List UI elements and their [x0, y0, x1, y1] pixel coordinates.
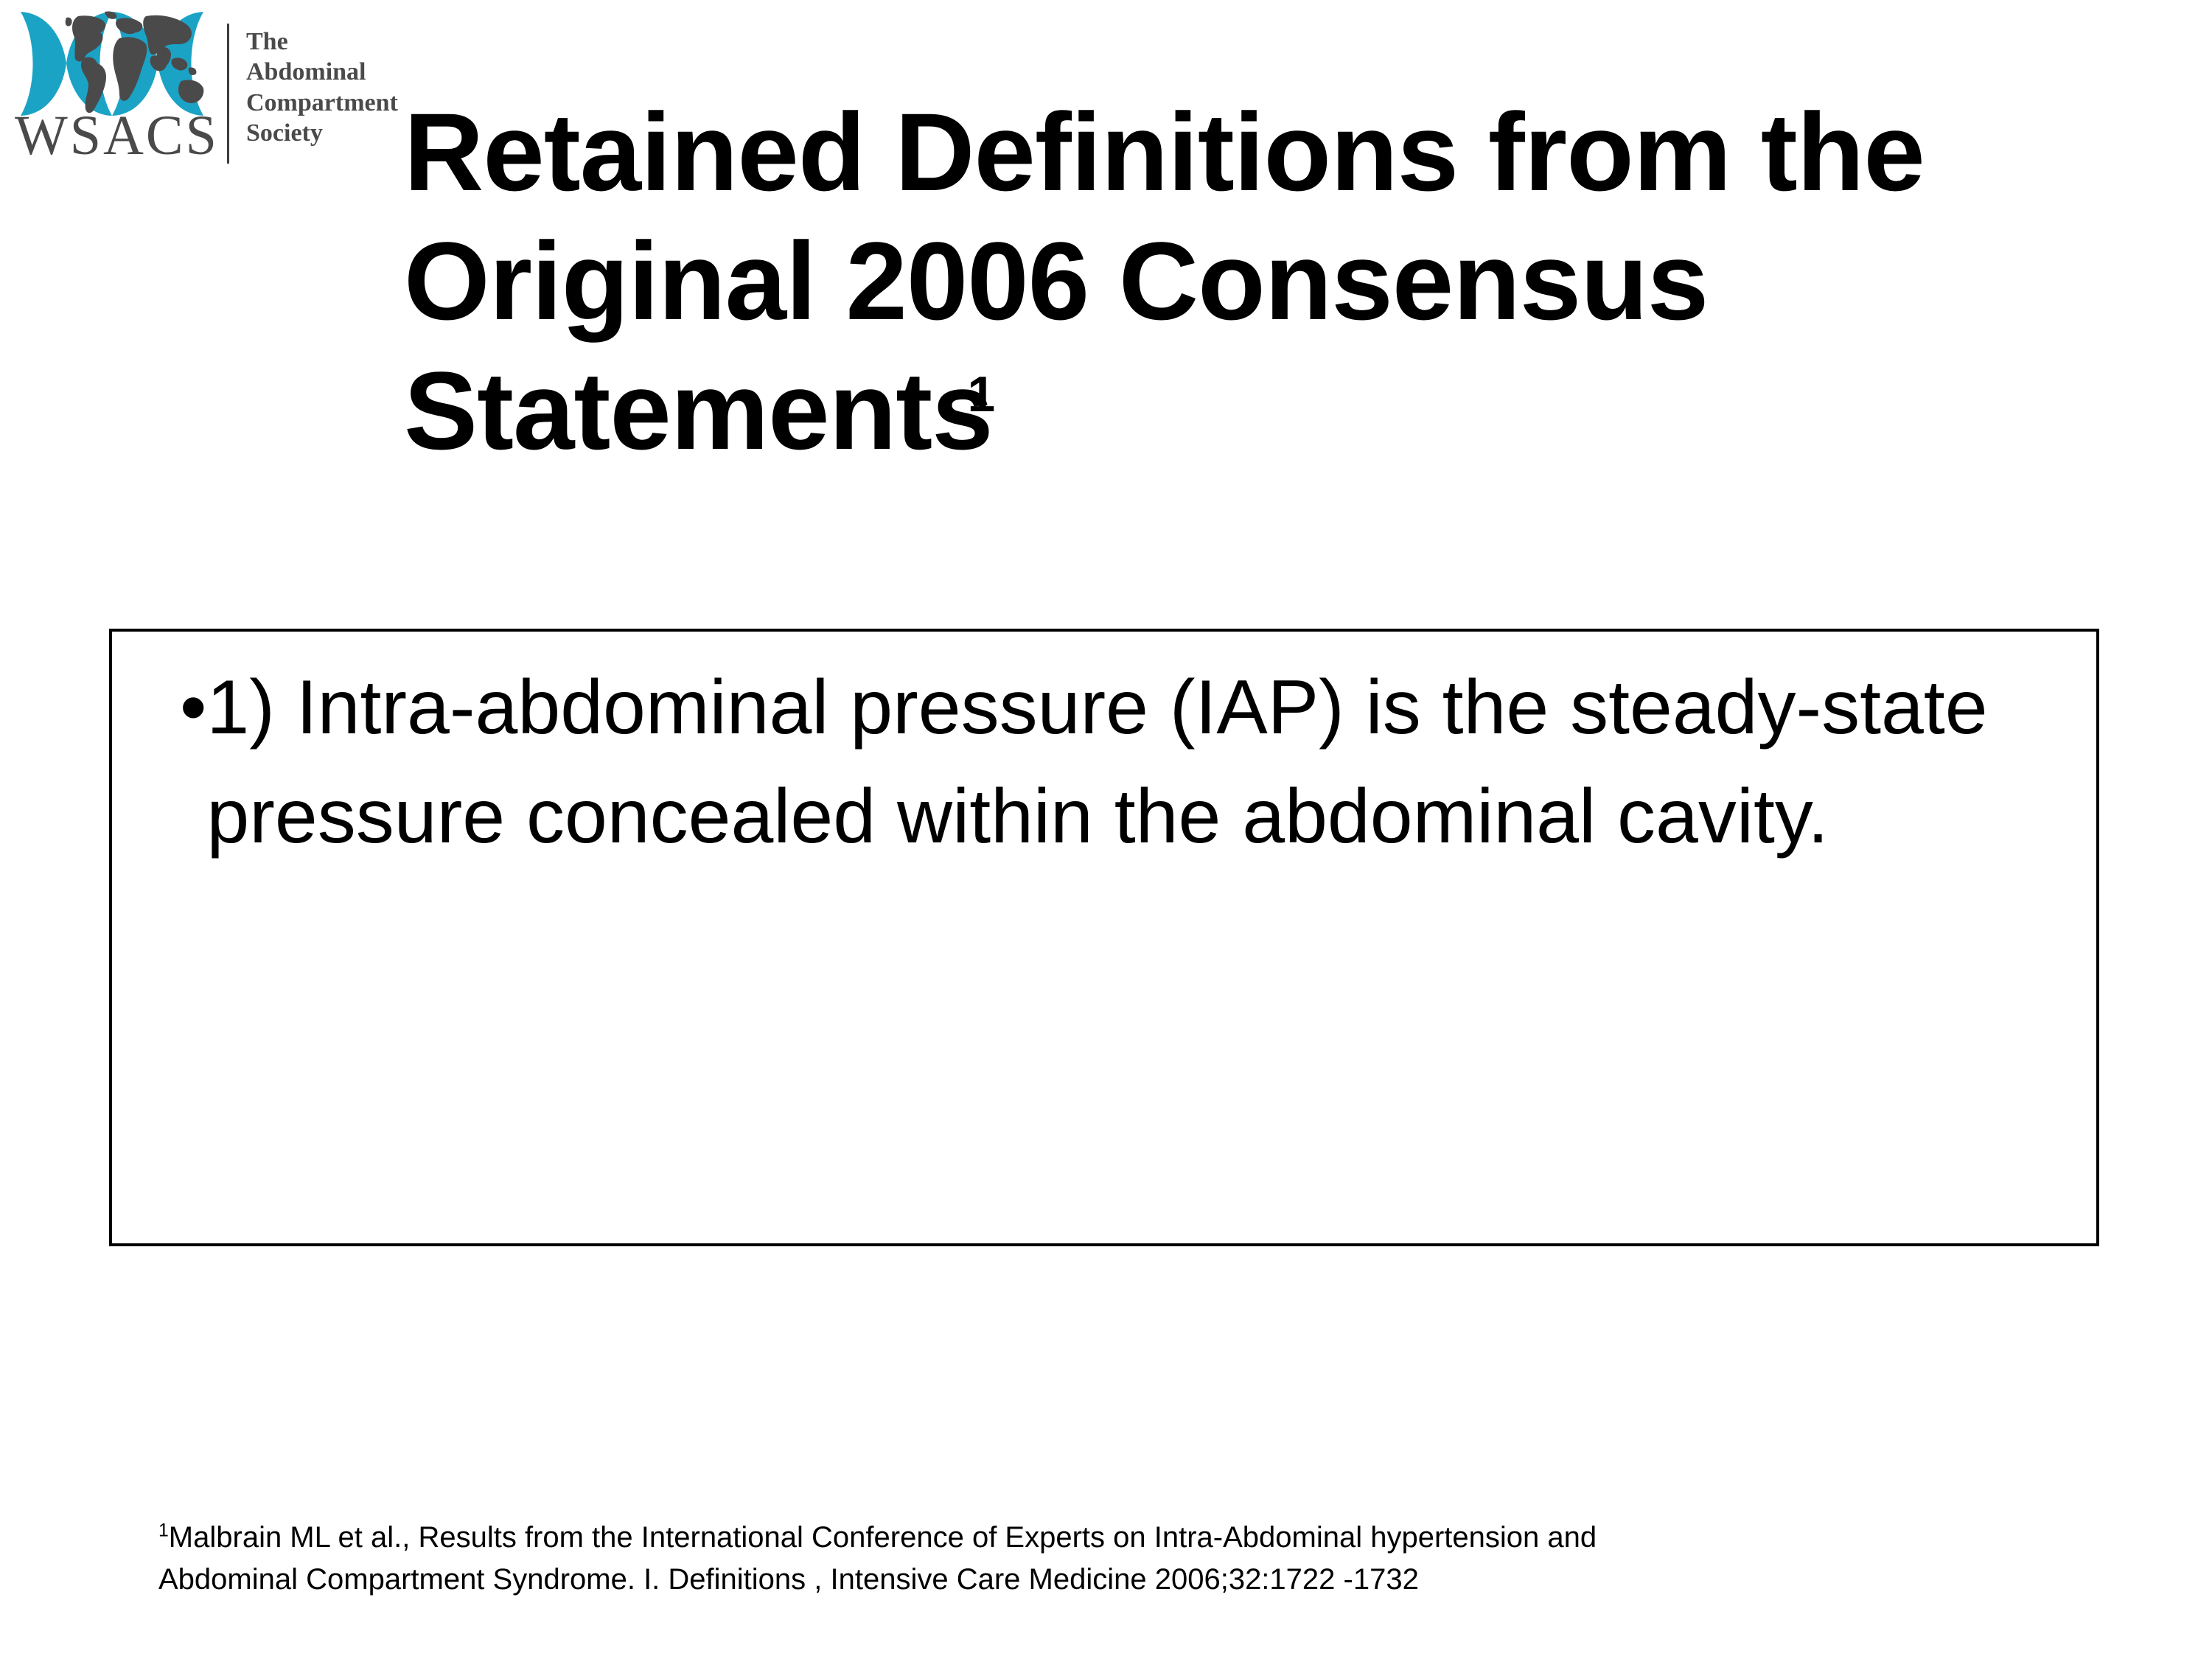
- footnote-line-1: 1Malbrain ML et al., Results from the In…: [158, 1517, 2031, 1559]
- slide-title-line-3: Statements1: [404, 346, 2143, 476]
- slide-title: Retained Definitions from the Original 2…: [404, 88, 2143, 476]
- logo-tagline: The Abdominal Compartment Society: [246, 27, 401, 149]
- footnote-citation: 1Malbrain ML et al., Results from the In…: [158, 1517, 2031, 1601]
- slide-title-footnote-marker: 1: [968, 367, 996, 422]
- wsacs-wordmark: WSACS: [15, 108, 215, 164]
- bullet-list: • 1) Intra-abdominal pressure (IAP) is t…: [180, 654, 2023, 871]
- list-item-text: 1) Intra-abdominal pressure (IAP) is the…: [206, 654, 2023, 871]
- logo-tagline-line-2: Abdominal: [246, 57, 401, 87]
- footnote-marker: 1: [158, 1521, 169, 1541]
- slide-title-line-1: Retained Definitions from the: [404, 88, 2143, 217]
- slide-title-line-3-text: Statements: [404, 349, 993, 472]
- list-item: • 1) Intra-abdominal pressure (IAP) is t…: [180, 654, 2023, 871]
- logo-tagline-line-4: Society: [246, 118, 401, 148]
- slide-title-line-2: Original 2006 Consensus: [404, 217, 2143, 346]
- wsacs-logo: WSACS The Abdominal Compartment Society: [9, 10, 392, 165]
- content-box: • 1) Intra-abdominal pressure (IAP) is t…: [109, 629, 2099, 1246]
- logo-divider: [227, 24, 229, 164]
- footnote-line-2: Abdominal Compartment Syndrome. I. Defin…: [158, 1559, 2031, 1601]
- logo-tagline-line-1: The: [246, 27, 401, 57]
- footnote-line-1-text: Malbrain ML et al., Results from the Int…: [169, 1521, 1597, 1554]
- bullet-icon: •: [180, 654, 206, 763]
- logo-tagline-line-3: Compartment: [246, 88, 401, 118]
- wsacs-globe-icon: [15, 10, 214, 117]
